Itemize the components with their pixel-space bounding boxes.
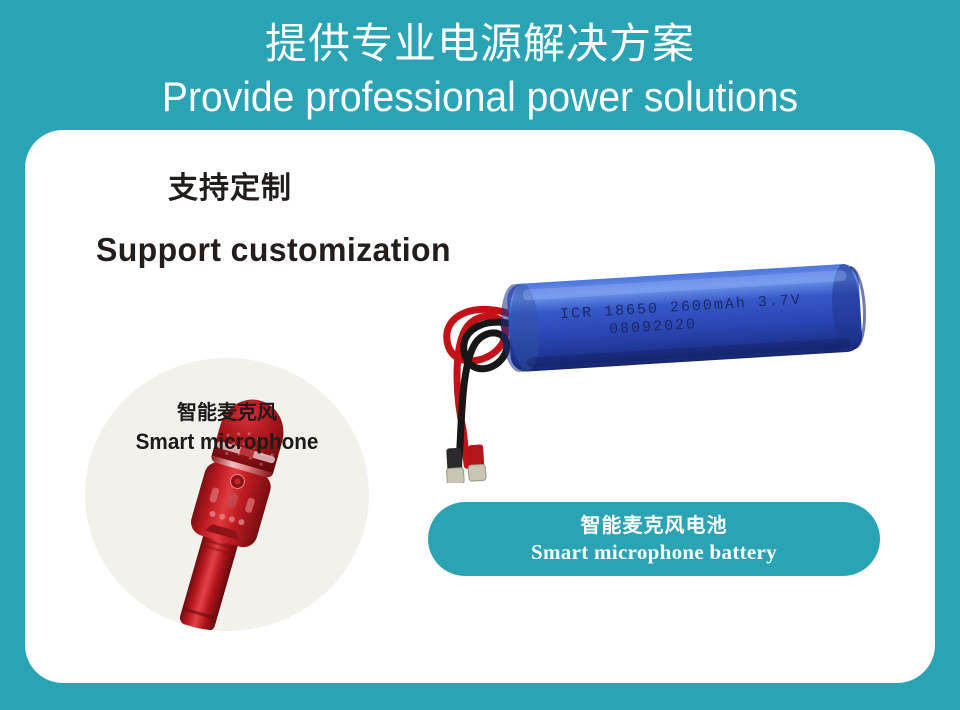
microphone-showcase-circle: 智能麦克风 Smart microphone	[85, 358, 369, 631]
banner-header: 提供专业电源解决方案 Provide professional power so…	[0, 0, 960, 130]
battery-pill-label-cn: 智能麦克风电池	[581, 513, 728, 539]
product-banner: 提供专业电源解决方案 Provide professional power so…	[0, 0, 960, 710]
battery-pill-label-en: Smart microphone battery	[531, 539, 777, 566]
battery-cell-icon: ICR 18650 2600mAh 3.7V 08092020	[415, 258, 885, 483]
support-customization-title-cn: 支持定制	[168, 170, 292, 208]
microphone-label-en: Smart microphone	[94, 428, 361, 456]
battery-name-pill[interactable]: 智能麦克风电池 Smart microphone battery	[428, 502, 880, 576]
microphone-icon	[85, 358, 369, 631]
header-title-en: Provide professional power solutions	[34, 72, 927, 122]
support-customization-title-en: Support customization	[96, 228, 451, 272]
header-title-cn: 提供专业电源解决方案	[0, 18, 960, 70]
microphone-label-cn: 智能麦克风	[85, 400, 369, 426]
